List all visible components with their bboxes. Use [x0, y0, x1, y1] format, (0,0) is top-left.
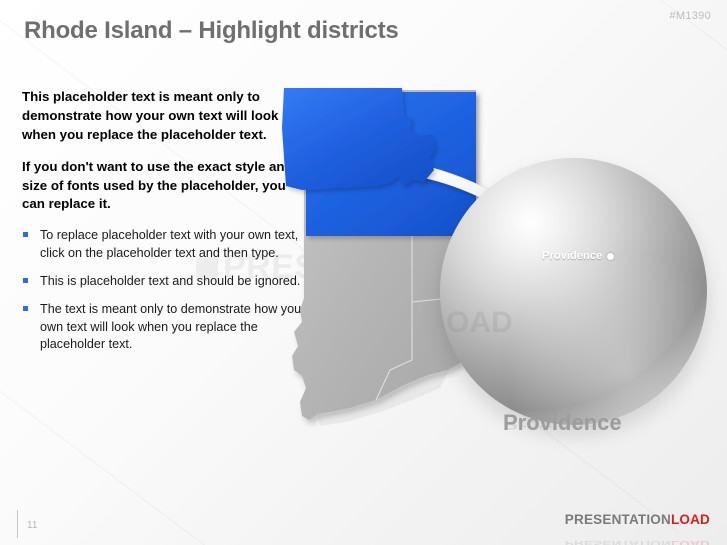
list-item: This is placeholder text and should be i…: [22, 273, 312, 290]
page-number: 11: [27, 520, 37, 531]
map-caption-reflection: Providence: [503, 418, 622, 432]
page-number-divider: [17, 510, 18, 538]
magnified-district-label: Providence: [542, 250, 602, 262]
lead-paragraph-2: If you don't want to use the exact style…: [22, 158, 312, 215]
list-item: The text is meant only to demonstrate ho…: [22, 301, 312, 353]
brand-logo-part-2: LOAD: [671, 512, 710, 527]
list-item: To replace placeholder text with your ow…: [22, 227, 312, 262]
brand-logo: PRESENTATIONLOAD: [565, 512, 710, 527]
text-column: This placeholder text is meant only to d…: [22, 88, 312, 365]
sphere-watermark: OAD: [446, 306, 513, 340]
list-item-label: To replace placeholder text with your ow…: [40, 228, 298, 259]
list-item-label: The text is meant only to demonstrate ho…: [40, 302, 305, 351]
magnified-district-shape: [280, 70, 480, 250]
brand-logo-part-1: PRESENTATION: [565, 512, 671, 527]
lead-paragraph-1: This placeholder text is meant only to d…: [22, 88, 312, 145]
bullet-square-icon: [23, 232, 28, 237]
list-item-label: This is placeholder text and should be i…: [40, 274, 300, 288]
bullet-list: To replace placeholder text with your ow…: [22, 227, 312, 353]
city-dot-marker-icon: [607, 253, 614, 260]
brand-logo-reflection-part-1: PRESENTATION: [565, 539, 671, 545]
bullet-square-icon: [23, 306, 28, 311]
brand-logo-reflection: PRESENTATIONLOAD: [565, 539, 710, 545]
map-graphic: OAD Providence Providence Providence: [280, 70, 727, 490]
magnifier-sphere: OAD: [440, 158, 707, 425]
bullet-square-icon: [23, 278, 28, 283]
brand-logo-reflection-part-2: LOAD: [671, 539, 710, 545]
slide-canvas: Rhode Island – Highlight districts #M139…: [0, 0, 727, 545]
page-title: Rhode Island – Highlight districts: [24, 17, 399, 45]
template-code: #M1390: [669, 10, 711, 22]
